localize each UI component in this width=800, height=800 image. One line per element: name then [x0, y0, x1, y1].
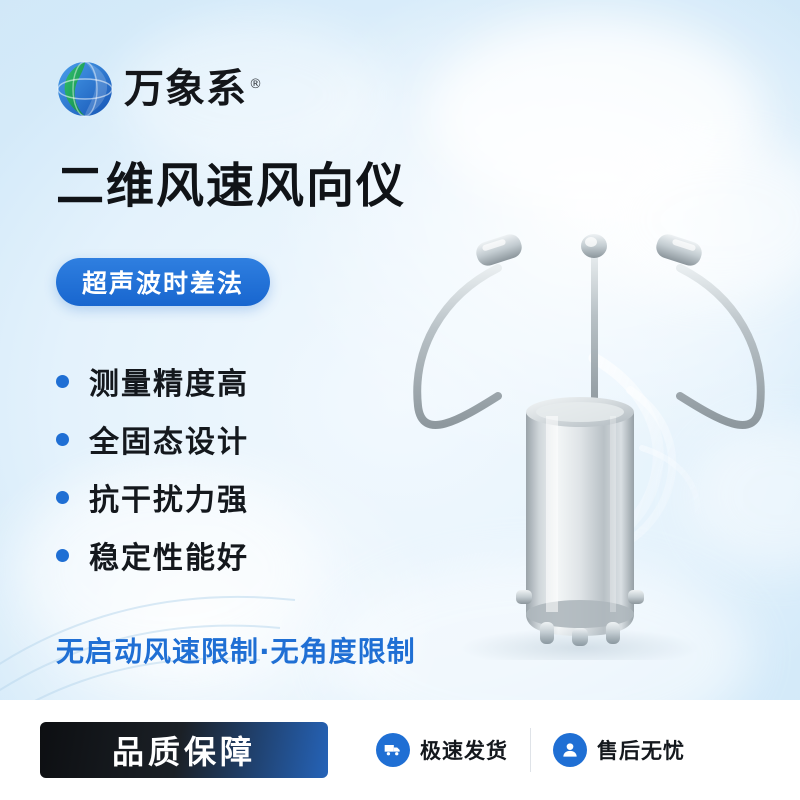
- tagline: 无启动风速限制·无角度限制: [56, 630, 416, 670]
- cloud-decoration: [600, 140, 800, 300]
- registered-mark: ®: [249, 77, 263, 92]
- sensor-body: [526, 412, 634, 636]
- cloud-decoration: [430, 20, 760, 210]
- service-item-support: 售后无忧: [530, 728, 707, 772]
- feature-label: 测量精度高: [89, 359, 249, 403]
- brand-name: 万象系®: [124, 69, 263, 109]
- cloud-decoration: [690, 420, 800, 570]
- transducer-right: [653, 231, 704, 268]
- bullet-icon: [56, 491, 69, 504]
- body-bottom-cap: [526, 600, 634, 628]
- bullet-icon: [56, 433, 69, 446]
- product-image: [380, 190, 780, 660]
- transducer-left: [473, 231, 524, 268]
- bottom-bar: 品质保障 极速发货: [0, 700, 800, 800]
- bullet-icon: [56, 375, 69, 388]
- page-title: 二维风速风向仪: [56, 160, 406, 213]
- feature-list: 测量精度高 全固态设计 抗干扰力强 稳定性能好: [56, 352, 386, 584]
- ground-shadow: [460, 628, 700, 660]
- service-label: 售后无忧: [597, 735, 685, 765]
- list-item: 全固态设计: [56, 410, 386, 468]
- service-label: 极速发货: [420, 735, 508, 765]
- base-connectors: [516, 590, 644, 646]
- body-top-cap: [526, 397, 634, 427]
- user-support-icon: [553, 733, 587, 767]
- brand-name-text: 万象系: [124, 66, 247, 112]
- brand-logo: 万象系®: [56, 58, 263, 120]
- globe-swirl-icon: [56, 60, 114, 118]
- list-item: 测量精度高: [56, 352, 386, 410]
- list-item: 抗干扰力强: [56, 468, 386, 526]
- feature-label: 稳定性能好: [89, 533, 249, 577]
- arm-right: [680, 268, 761, 425]
- feature-label: 全固态设计: [89, 417, 249, 461]
- service-item-shipping: 极速发货: [354, 728, 530, 772]
- service-list: 极速发货 售后无忧: [354, 728, 707, 772]
- arm-left: [417, 268, 498, 425]
- top-transducer: [581, 234, 607, 258]
- feature-label: 抗干扰力强: [89, 475, 249, 519]
- wind-swirl-decoration: [530, 358, 698, 582]
- technology-badge: 超声波时差法: [56, 258, 270, 306]
- bullet-icon: [56, 549, 69, 562]
- truck-icon: [376, 733, 410, 767]
- poster-root: 万象系® 二维风速风向仪 超声波时差法 测量精度高 全固态设计 抗干扰力强 稳定…: [0, 0, 800, 800]
- quality-badge: 品质保障: [40, 722, 328, 778]
- center-mast: [591, 252, 598, 412]
- list-item: 稳定性能好: [56, 526, 386, 584]
